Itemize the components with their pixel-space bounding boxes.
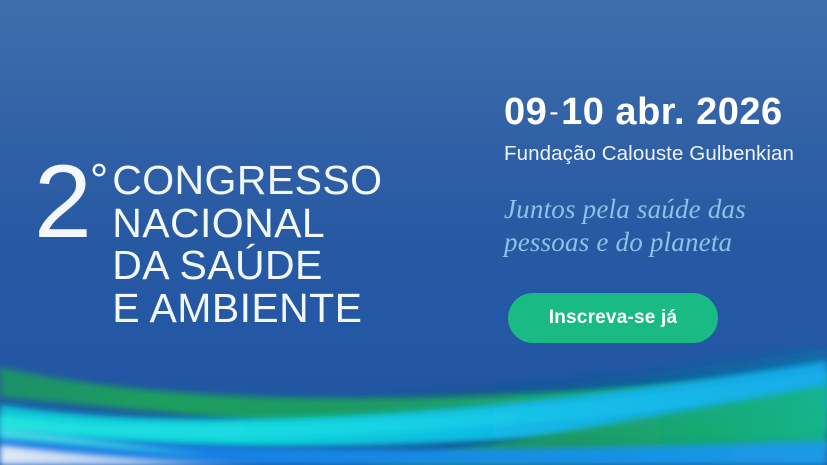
- wave-band-cyan-highlight: [0, 371, 827, 438]
- wave-decoration: [0, 345, 827, 465]
- title-line-3: DA SAÚDE: [112, 244, 382, 287]
- wave-band-green: [0, 367, 827, 437]
- event-venue: Fundação Calouste Gulbenkian: [504, 141, 814, 167]
- date-range-separator: -: [547, 96, 561, 127]
- event-title-block: 2° CONGRESSO NACIONAL DA SAÚDE E AMBIENT…: [34, 155, 382, 329]
- event-banner: 2° CONGRESSO NACIONAL DA SAÚDE E AMBIENT…: [0, 0, 827, 465]
- event-details-column: 09-10 abr. 2026 Fundação Calouste Gulben…: [504, 90, 814, 343]
- event-date-end: 10 abr. 2026: [561, 91, 783, 133]
- wave-band-deep: [0, 349, 827, 465]
- title-line-1: CONGRESSO: [112, 159, 382, 202]
- event-ordinal: 2°: [34, 157, 106, 249]
- wave-band-pale: [0, 445, 260, 465]
- degree-symbol-icon: °: [90, 154, 106, 206]
- wave-band-green-right: [360, 385, 827, 465]
- wave-band-cyan: [0, 361, 827, 447]
- register-button[interactable]: Inscreva-se já: [508, 293, 718, 343]
- title-line-4: E AMBIENTE: [112, 287, 382, 330]
- event-date-start: 09: [504, 91, 547, 133]
- wave-artwork-icon: [0, 345, 827, 465]
- title-line-2: NACIONAL: [112, 202, 382, 245]
- wave-band-blue: [0, 431, 827, 465]
- event-tagline: Juntos pela saúde das pessoas e do plane…: [504, 193, 804, 259]
- event-ordinal-number: 2: [34, 144, 90, 260]
- wave-glint-cyan: [0, 427, 210, 455]
- event-dates: 09-10 abr. 2026: [504, 90, 814, 134]
- page-title: CONGRESSO NACIONAL DA SAÚDE E AMBIENTE: [112, 159, 382, 329]
